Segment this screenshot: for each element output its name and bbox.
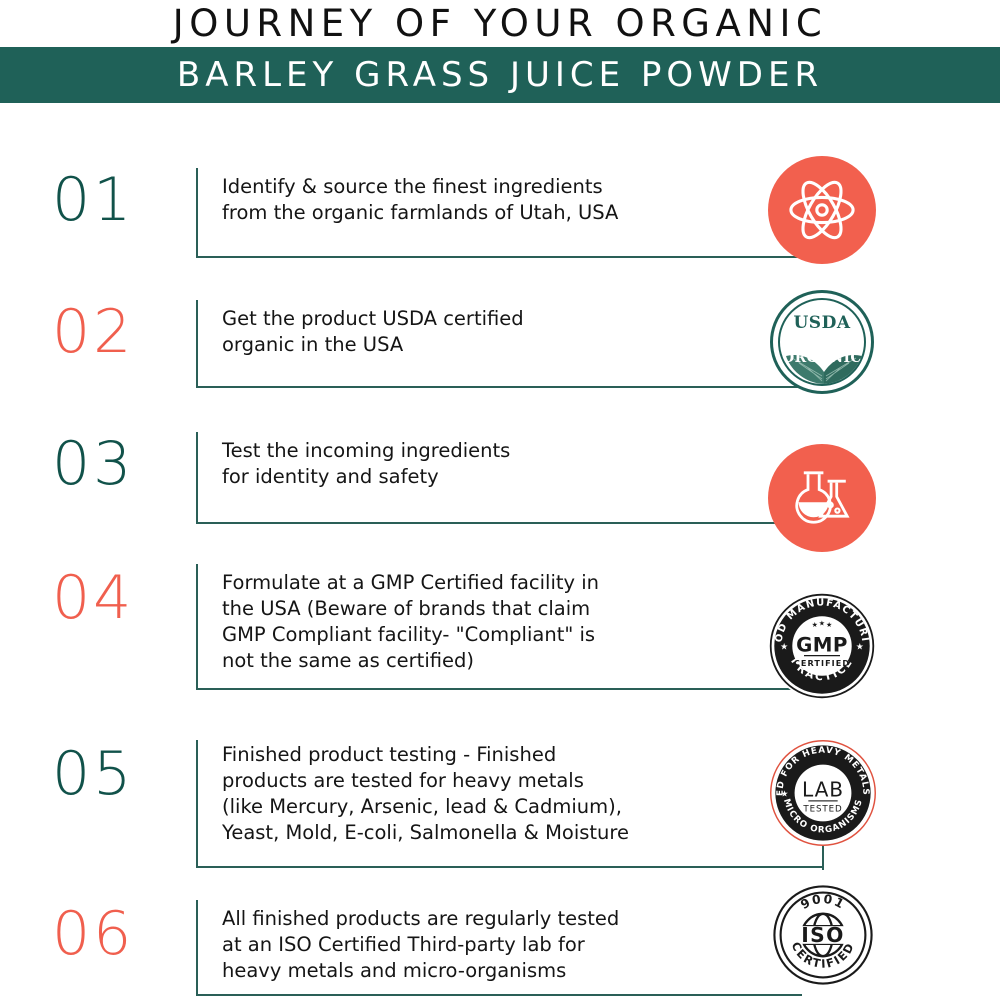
step-row-01: 01 Identify & source the finest ingredie… <box>0 158 1000 278</box>
step-number-03: 03 <box>52 434 134 494</box>
step-number-01: 01 <box>52 170 134 230</box>
step-row-06: 06 All finished products are regularly t… <box>0 888 1000 1000</box>
svg-text:★: ★ <box>856 642 864 652</box>
title-band: BARLEY GRASS JUICE POWDER <box>0 47 1000 103</box>
svg-text:CERTIFIED: CERTIFIED <box>794 658 850 668</box>
step-row-03: 03 Test the incoming ingredients for ide… <box>0 422 1000 547</box>
step-text-02: Get the product USDA certified organic i… <box>222 306 742 358</box>
step-row-02: 02 Get the product USDA certified organi… <box>0 290 1000 410</box>
step-number-04: 04 <box>52 568 134 628</box>
iso-9001-certified-badge-icon: 9001 CERTIFIED ISO <box>770 882 878 990</box>
step-row-05: 05 Finished product testing - Finished p… <box>0 728 1000 888</box>
organic-label: ORGANIC <box>780 350 864 366</box>
svg-text:★: ★ <box>826 620 832 629</box>
svg-text:ISO: ISO <box>801 923 844 947</box>
step-text-03: Test the incoming ingredients for identi… <box>222 438 742 490</box>
step-text-06: All finished products are regularly test… <box>222 906 762 984</box>
step-row-04: 04 Formulate at a GMP Certified facility… <box>0 552 1000 712</box>
svg-text:★: ★ <box>780 642 788 652</box>
header: JOURNEY OF YOUR ORGANIC BARLEY GRASS JUI… <box>0 0 1000 108</box>
svg-text:TESTED: TESTED <box>802 804 842 814</box>
svg-text:★: ★ <box>781 790 788 799</box>
svg-text:LAB: LAB <box>802 778 844 802</box>
lab-flask-icon <box>768 444 876 552</box>
svg-text:★: ★ <box>812 620 818 629</box>
svg-text:★: ★ <box>819 618 825 627</box>
step-text-01: Identify & source the finest ingredients… <box>222 174 742 226</box>
lab-tested-badge-icon: TESTED FOR HEAVY METALS AND MICRO ORGANI… <box>768 738 876 846</box>
step-number-06: 06 <box>52 904 134 964</box>
usda-organic-seal-icon: USDA ORGANIC <box>770 290 874 394</box>
page-title-line2: BARLEY GRASS JUICE POWDER <box>177 55 823 95</box>
step-number-02: 02 <box>52 302 134 362</box>
page-title-line1: JOURNEY OF YOUR ORGANIC <box>0 0 1000 47</box>
step-text-05: Finished product testing - Finished prod… <box>222 742 762 846</box>
svg-text:9001: 9001 <box>798 892 847 912</box>
step-number-05: 05 <box>52 744 134 804</box>
gmp-certified-badge-icon: GOOD MANUFACTURING PRACTICE ★ ★ ★ ★ ★ GM… <box>768 592 876 700</box>
atom-icon <box>768 156 876 264</box>
svg-text:GMP: GMP <box>796 633 848 656</box>
infographic-page: JOURNEY OF YOUR ORGANIC BARLEY GRASS JUI… <box>0 0 1000 1000</box>
step-text-04: Formulate at a GMP Certified facility in… <box>222 570 752 674</box>
